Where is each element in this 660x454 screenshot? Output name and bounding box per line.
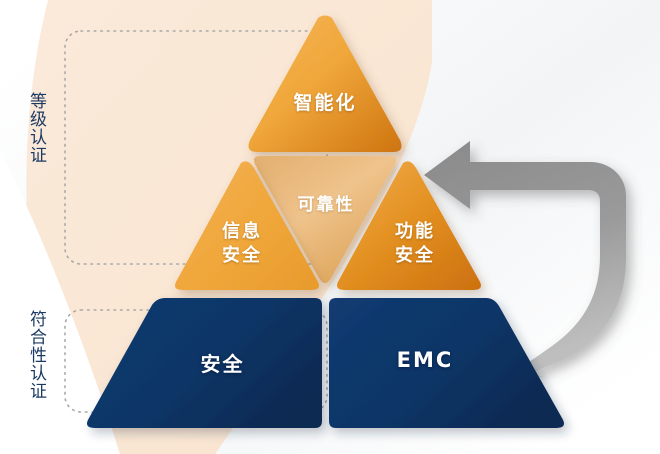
shape-label-safety: 安全 — [150, 348, 295, 377]
shape-label-intelligent: 智能化 — [265, 88, 385, 115]
side-label-compliance: 符合性认证 — [26, 310, 46, 400]
shape-label-emc: EMC — [345, 348, 505, 372]
diagram-canvas: 等级认证 符合性认证 智能化 可靠性 信息 安全 功能 安全 安全 EMC — [0, 0, 660, 454]
shape-intelligent[interactable] — [249, 16, 402, 153]
shape-label-funcsafe: 功能 安全 — [365, 220, 465, 268]
shape-label-reliability: 可靠性 — [272, 190, 380, 215]
side-label-grade: 等级认证 — [26, 92, 46, 164]
shape-label-infosec: 信息 安全 — [192, 220, 292, 268]
shapes-layer — [0, 0, 660, 454]
